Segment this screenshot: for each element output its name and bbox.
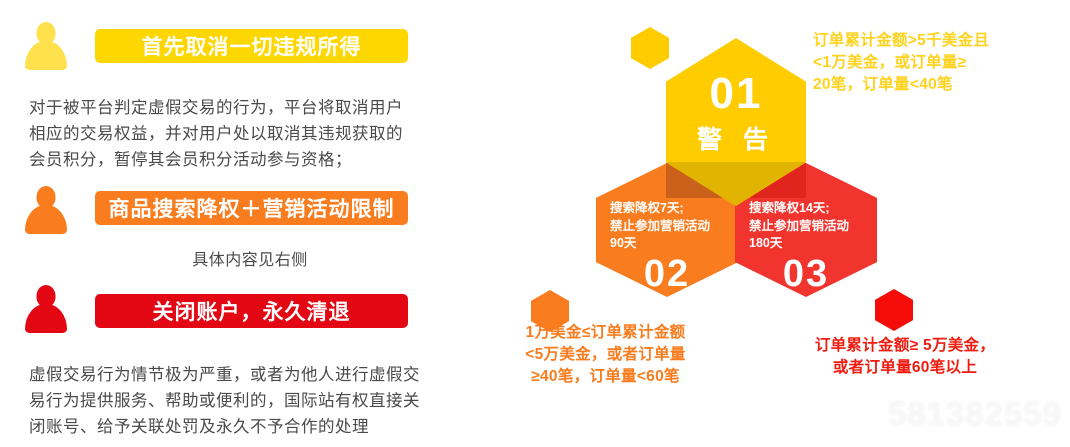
section-3-body: 虚假交易行为情节极为严重，或者为他人进行虚假交易行为提供服务、帮助或便利的，国际… xyxy=(29,362,424,440)
hexagon-03-body-line-3: 180天 xyxy=(749,235,871,253)
left-panel: 首先取消一切违规所得 对于被平台判定虚假交易的行为，平台将取消用户相应的交易权益… xyxy=(0,0,470,447)
hexagon-03-body: 搜索降权14天; 禁止参加营销活动 180天 xyxy=(749,200,871,253)
callout-03-line-2: 或者订单量60笔以上 xyxy=(775,357,1035,379)
callout-02-line-3: ≥40笔，订单量<60笔 xyxy=(488,366,723,388)
banner-label: 商品搜索降权＋营销活动限制 xyxy=(109,193,395,223)
callout-warning-line-1: 订单累计金额>5千美金且 xyxy=(813,30,1063,52)
banner-close-account: 关闭账户，永久清退 xyxy=(95,294,408,328)
callout-warning-line-3: 20笔，订单量<40笔 xyxy=(813,74,1063,96)
hexagon-diagram: 01 警 告 搜索降权7天; 禁止参加营销活动 90天 02 搜索降权14天; … xyxy=(470,0,1070,447)
person-silhouette-icon xyxy=(24,186,68,234)
person-silhouette-icon xyxy=(24,285,68,333)
callout-02-line-1: 1万美金≤订单累计金额 xyxy=(488,322,723,344)
hexagon-02-body-line-3: 90天 xyxy=(610,235,730,253)
person-silhouette-icon xyxy=(24,22,68,70)
hexagon-03-body-line-1: 搜索降权14天; xyxy=(749,200,871,218)
banner-label: 首先取消一切违规所得 xyxy=(142,31,362,61)
callout-03-line-1: 订单累计金额≥ 5万美金， xyxy=(775,335,1035,357)
decor-hex-yellow-icon xyxy=(631,27,669,69)
hexagon-03-body-line-2: 禁止参加营销活动 xyxy=(749,218,871,236)
hexagon-02-body: 搜索降权7天; 禁止参加营销活动 90天 xyxy=(610,200,730,253)
callout-warning-line-2: <1万美金，或订单量≥ xyxy=(813,52,1063,74)
banner-cancel-illegal-gains: 首先取消一切违规所得 xyxy=(95,29,408,63)
banner-label: 关闭账户，永久清退 xyxy=(153,296,351,326)
hexagon-02-body-line-1: 搜索降权7天; xyxy=(610,200,730,218)
callout-level-03: 订单累计金额≥ 5万美金， 或者订单量60笔以上 xyxy=(775,335,1035,379)
hexagon-02-body-line-2: 禁止参加营销活动 xyxy=(610,218,730,236)
callout-level-02: 1万美金≤订单累计金额 <5万美金，或者订单量 ≥40笔，订单量<60笔 xyxy=(488,322,723,388)
section-1-body: 对于被平台判定虚假交易的行为，平台将取消用户相应的交易权益，并对用户处以取消其违… xyxy=(29,95,419,173)
banner-search-demotion: 商品搜索降权＋营销活动限制 xyxy=(95,191,408,225)
callout-warning: 订单累计金额>5千美金且 <1万美金，或订单量≥ 20笔，订单量<40笔 xyxy=(813,30,1063,96)
callout-02-line-2: <5万美金，或者订单量 xyxy=(488,344,723,366)
decor-hex-red-icon xyxy=(875,289,913,331)
section-2-body: 具体内容见右侧 xyxy=(85,246,415,270)
